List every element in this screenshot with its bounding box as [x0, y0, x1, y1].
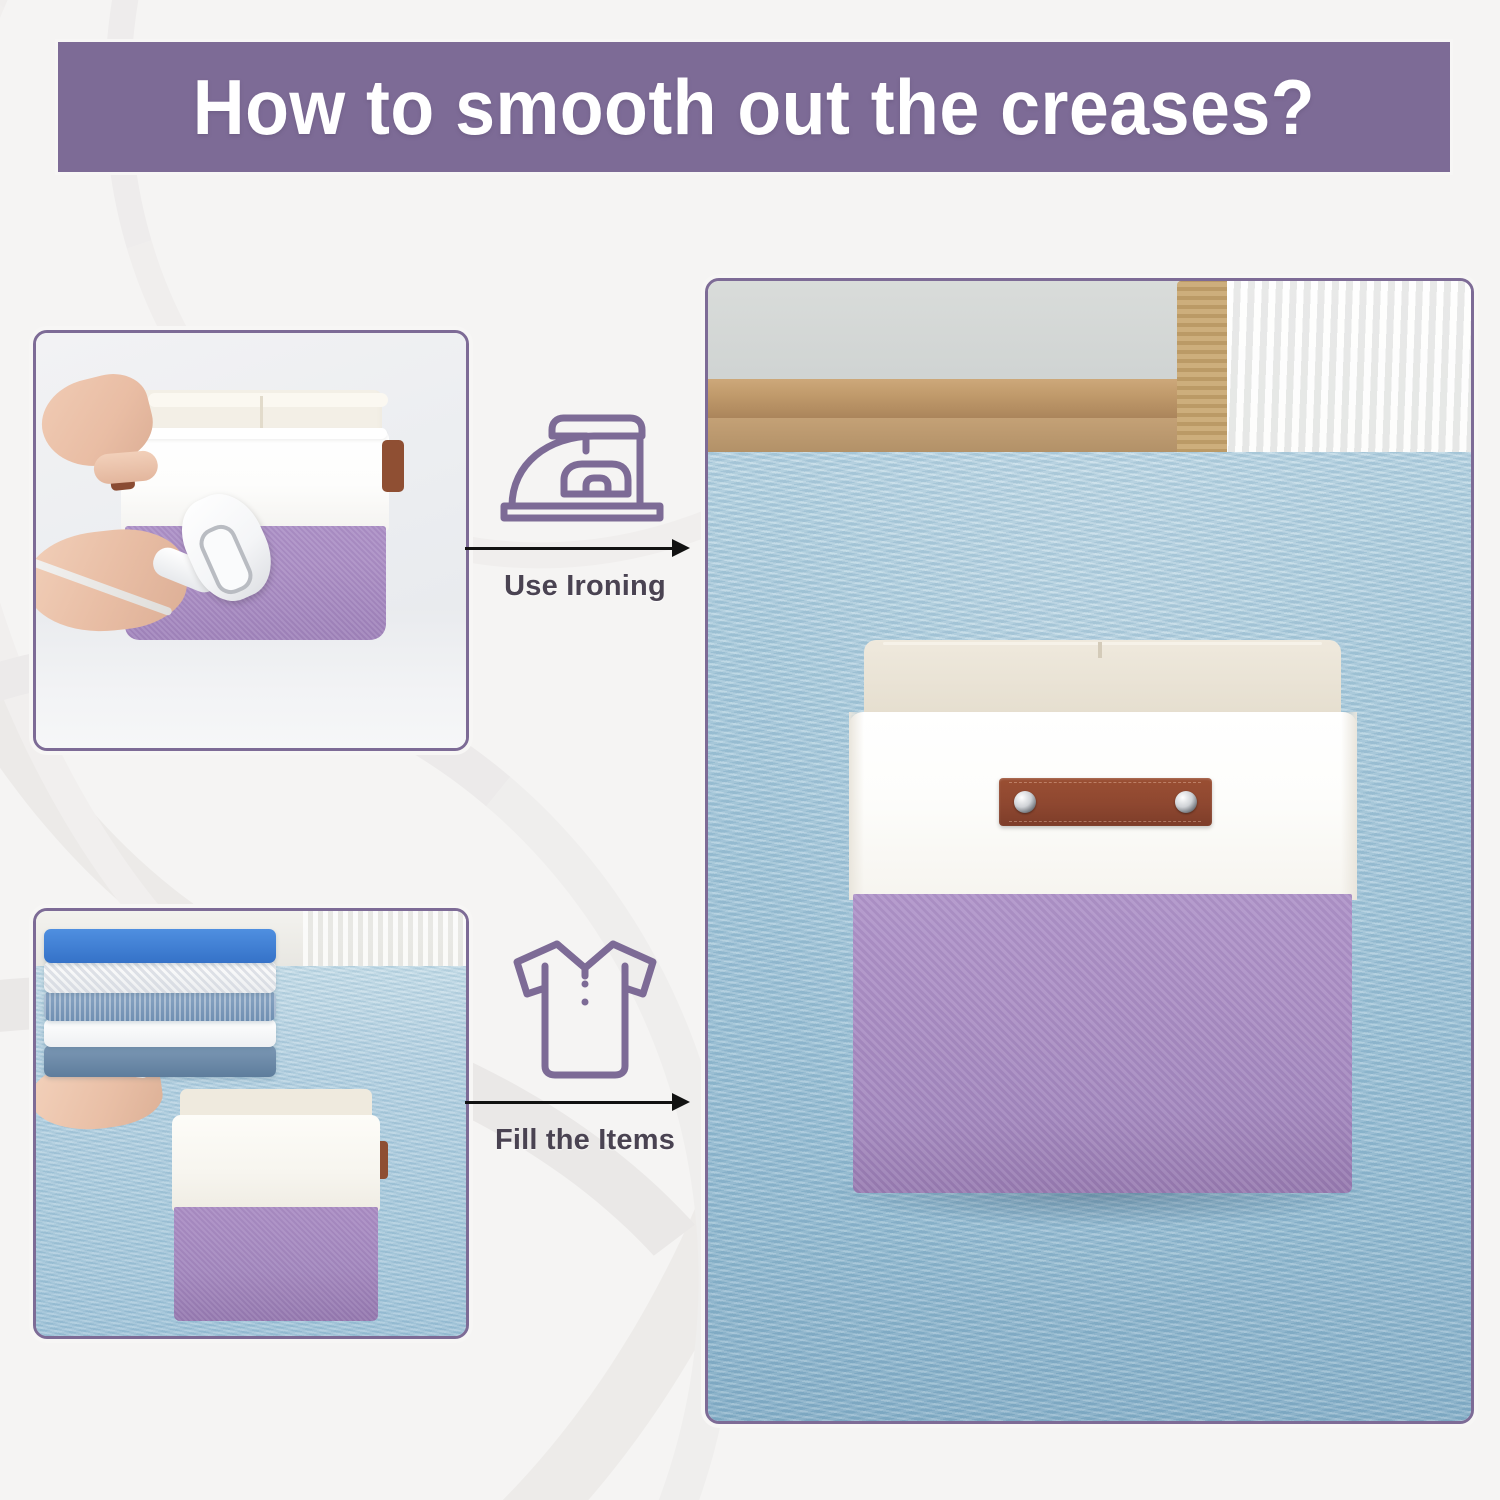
basket-purple-band: [174, 1207, 378, 1321]
basket-purple-band: [853, 894, 1352, 1193]
page-title: How to smooth out the creases?: [193, 62, 1315, 153]
basket-right-edge: [1341, 712, 1356, 900]
folded-garment: [44, 961, 276, 993]
rivet-left: [1014, 791, 1036, 813]
arrow-right-icon: [465, 536, 705, 560]
photo-content: [36, 333, 466, 748]
storage-basket: [168, 1089, 383, 1321]
arrow-head: [672, 539, 690, 557]
lining-fold: [148, 393, 388, 407]
photo-content: [36, 911, 466, 1336]
basket-white-band: [172, 1115, 380, 1211]
leather-handle: [999, 778, 1212, 826]
step-fill-the-items: Fill the Items: [465, 952, 705, 1157]
header-banner: How to smooth out the creases?: [58, 42, 1450, 172]
photo-content: [708, 281, 1471, 1421]
steaming-basket-photo: [33, 330, 469, 751]
leather-handle-right: [382, 440, 404, 492]
folded-garment: [44, 991, 276, 1021]
folded-clothes-stack: [44, 929, 276, 1081]
arrow-line: [465, 1101, 680, 1104]
arrow-line: [465, 547, 680, 550]
folded-garment: [44, 929, 276, 963]
arrow-head: [672, 1093, 690, 1111]
step-use-ironing: Use Ironing: [465, 398, 705, 603]
lining-seam: [1098, 642, 1102, 658]
iron-icon: [465, 398, 705, 528]
step-label: Use Ironing: [465, 570, 705, 603]
storage-basket: [849, 640, 1356, 1193]
basket-left-edge: [849, 712, 864, 900]
folding-clothes-photo: [33, 908, 469, 1339]
finished-basket-photo: [705, 278, 1474, 1424]
polo-shirt-icon: [465, 952, 705, 1082]
infographic-canvas: How to smooth out the creases?: [0, 0, 1500, 1500]
basket-rim: [123, 428, 387, 439]
step-label: Fill the Items: [465, 1124, 705, 1157]
folded-garment: [44, 1045, 276, 1077]
folded-garment: [44, 1019, 276, 1047]
lining-fold: [883, 642, 1322, 646]
arrow-right-icon: [465, 1090, 705, 1114]
rivet-right: [1175, 791, 1197, 813]
